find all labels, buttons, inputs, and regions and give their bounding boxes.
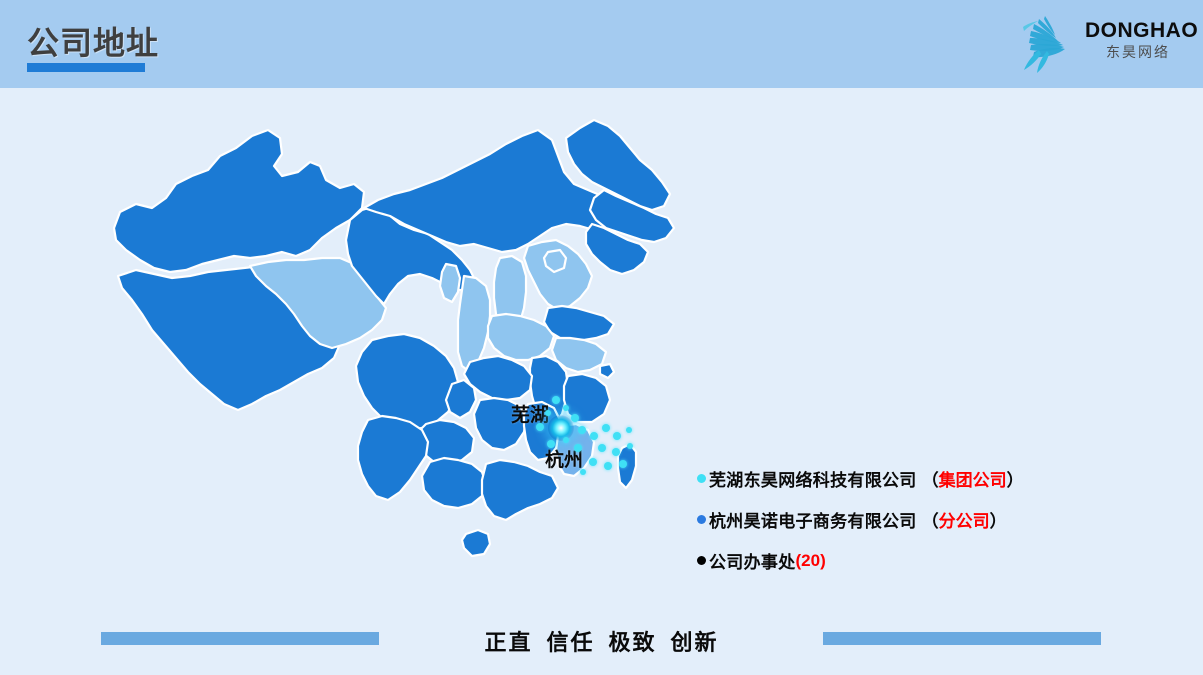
- office-marker-dot[interactable]: [613, 432, 621, 440]
- footer-slogan-word: 信任: [546, 630, 594, 655]
- legend-bullet-blue: [697, 515, 706, 524]
- brand-logo: DONGHAO 东昊网络: [1011, 8, 1191, 78]
- slide-root: 公司地址 DONGHAO 东昊网络: [0, 0, 1203, 675]
- legend-bullet-cyan: [697, 474, 706, 483]
- office-marker-dot[interactable]: [578, 426, 586, 434]
- legend-item-offices[interactable]: 公司办事处(20): [697, 540, 1137, 581]
- province-yunnan: [358, 416, 428, 500]
- office-marker-dot[interactable]: [552, 396, 560, 404]
- office-marker-dot[interactable]: [547, 440, 555, 448]
- legend-label-offices: 公司办事处: [709, 548, 796, 573]
- legend-tag-group-company: 集团公司: [939, 466, 1007, 491]
- feather-fan-icon: [1011, 10, 1083, 76]
- province-ningxia: [440, 264, 460, 302]
- legend-paren-open-0: （: [922, 466, 939, 491]
- china-map-svg: [96, 100, 716, 600]
- legend-bullet-black: [697, 556, 706, 565]
- office-marker-dot[interactable]: [602, 424, 610, 432]
- legend-count-offices: (20): [796, 551, 826, 571]
- legend-paren-close-0: ）: [1007, 466, 1024, 491]
- province-sichuan: [356, 334, 458, 430]
- marker-headquarters[interactable]: [548, 415, 574, 441]
- legend-label-group-company: 芜湖东昊网络科技有限公司: [709, 466, 917, 491]
- footer-slogan-word: 极致: [609, 630, 657, 655]
- logo-name: DONGHAO: [1085, 20, 1191, 42]
- office-marker-dot[interactable]: [626, 427, 632, 433]
- footer-slogan-word: 创新: [671, 630, 719, 655]
- china-map: 芜湖 杭州: [96, 100, 716, 600]
- legend-paren-open-1: （: [922, 507, 939, 532]
- footer-slogan-word: 正直: [484, 630, 532, 655]
- office-marker-dot[interactable]: [604, 462, 612, 470]
- legend-label-branch-company: 杭州昊诺电子商务有限公司: [709, 507, 917, 532]
- office-marker-dot[interactable]: [574, 444, 582, 452]
- city-label-wuhu: 芜湖: [511, 400, 549, 427]
- legend-paren-close-1: ）: [990, 507, 1007, 532]
- province-xinjiang: [114, 130, 364, 272]
- office-marker-dot[interactable]: [536, 423, 544, 431]
- legend-item-group-company[interactable]: 芜湖东昊网络科技有限公司 （集团公司）: [697, 458, 1137, 499]
- office-marker-dot[interactable]: [571, 414, 579, 422]
- office-marker-dot[interactable]: [590, 432, 598, 440]
- office-marker-dot[interactable]: [563, 437, 569, 443]
- province-guangxi: [422, 458, 486, 508]
- office-marker-dot[interactable]: [580, 469, 586, 475]
- office-marker-dot[interactable]: [627, 443, 633, 449]
- office-marker-dot[interactable]: [612, 448, 620, 456]
- province-shanghai: [600, 364, 614, 378]
- province-chongqing: [446, 380, 476, 418]
- legend: 芜湖东昊网络科技有限公司 （集团公司） 杭州昊诺电子商务有限公司 （分公司） 公…: [697, 458, 1137, 581]
- office-marker-dot[interactable]: [598, 444, 606, 452]
- logo-subtitle: 东昊网络: [1085, 43, 1191, 61]
- page-title: 公司地址: [27, 18, 159, 64]
- title-underline: [27, 63, 145, 72]
- logo-text-block: DONGHAO 东昊网络: [1085, 20, 1191, 61]
- office-marker-dot[interactable]: [619, 460, 627, 468]
- legend-tag-branch-company: 分公司: [939, 507, 990, 532]
- legend-item-branch-company[interactable]: 杭州昊诺电子商务有限公司 （分公司）: [697, 499, 1137, 540]
- province-hainan: [462, 530, 490, 556]
- office-marker-dot[interactable]: [563, 405, 569, 411]
- office-marker-dot[interactable]: [545, 410, 551, 416]
- office-marker-dot[interactable]: [589, 458, 597, 466]
- footer-slogan: 正直信任极致创新: [0, 625, 1203, 657]
